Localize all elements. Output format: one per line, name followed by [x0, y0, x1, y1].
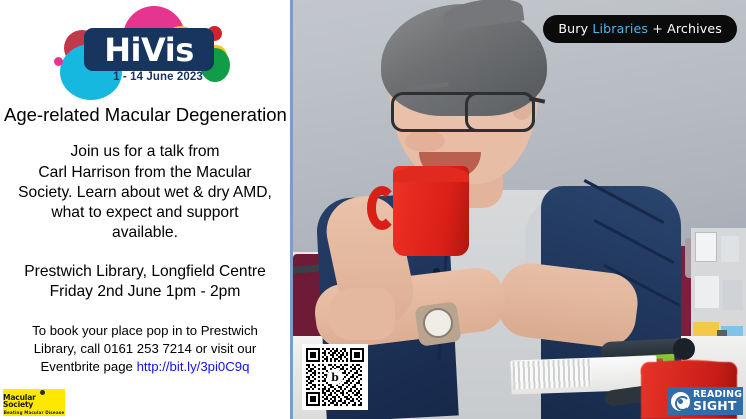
macular-society-tagline: Beating Macular Disease: [4, 411, 65, 415]
photo-magnifier-lens: [673, 338, 695, 360]
eventbrite-link[interactable]: http://bit.ly/3pi0C9q: [137, 359, 250, 374]
poster: HiVis 1 - 14 June 2023 Age-related Macul…: [0, 0, 746, 419]
bury-badge-word-archives: + Archives: [652, 21, 722, 36]
hivis-wordmark-badge: HiVis: [84, 28, 214, 71]
event-description: Join us for a talk from Carl Harrison fr…: [0, 142, 290, 243]
poster-text-column: HiVis 1 - 14 June 2023 Age-related Macul…: [0, 0, 290, 419]
booking-info: To book your place pop in to Prestwich L…: [0, 322, 290, 375]
qr-code[interactable]: b: [302, 344, 368, 410]
booking-line-1: To book your place pop in to Prestwich: [6, 322, 284, 340]
reading-sight-line-2: SIGHT: [693, 400, 742, 412]
event-photo: Bury Libraries + Archives: [290, 0, 746, 419]
photo-leaflet: [695, 276, 719, 308]
hivis-dates: 1 - 14 June 2023: [84, 71, 232, 83]
eventbrite-label: Eventbrite page: [41, 359, 137, 374]
photo-notebook-spiral: [513, 359, 592, 390]
photo-leaflet: [695, 232, 717, 262]
reading-sight-logo: READING SIGHT: [667, 387, 743, 415]
description-line: Society. Learn about wet & dry AMD,: [4, 183, 286, 203]
photo-leaflet: [721, 236, 739, 262]
decorative-dot-pink: [54, 57, 63, 66]
description-line: available.: [4, 223, 286, 243]
booking-line-3: Eventbrite page http://bit.ly/3pi0C9q: [6, 358, 284, 376]
photo-person-hand: [329, 288, 395, 340]
photo-person-cheek: [405, 130, 445, 152]
venue-line: Friday 2nd June 1pm - 2pm: [4, 282, 286, 302]
bury-badge-word-libraries: Libraries: [592, 21, 648, 36]
macular-society-name: Macular Society: [3, 394, 65, 409]
photo-red-mug-rim: [393, 166, 469, 182]
description-line: what to expect and support: [4, 203, 286, 223]
bury-badge-word-bury: Bury: [558, 21, 588, 36]
booking-line-2: Library, call 0161 253 7214 or visit our: [6, 340, 284, 358]
description-line: Join us for a talk from: [4, 142, 286, 162]
description-line: Carl Harrison from the Macular: [4, 163, 286, 183]
bury-libraries-badge: Bury Libraries + Archives: [543, 15, 737, 43]
reading-sight-eye-icon: [671, 392, 690, 411]
photo-leaflet: [723, 280, 743, 310]
event-venue-and-time: Prestwich Library, Longfield Centre Frid…: [0, 262, 290, 303]
page-title: Age-related Macular Degeneration: [0, 104, 290, 125]
hivis-campaign-logo: HiVis 1 - 14 June 2023: [0, 0, 290, 98]
bitly-logo-icon: b: [327, 369, 343, 385]
venue-line: Prestwich Library, Longfield Centre: [4, 262, 286, 282]
hivis-wordmark: HiVis: [104, 34, 193, 66]
macular-society-logo: Macular Society Beating Macular Disease: [3, 389, 65, 416]
date-tab-marker: [68, 70, 84, 85]
photo-wristwatch-face: [423, 308, 453, 338]
photo-person-glasses-lens: [465, 92, 535, 132]
